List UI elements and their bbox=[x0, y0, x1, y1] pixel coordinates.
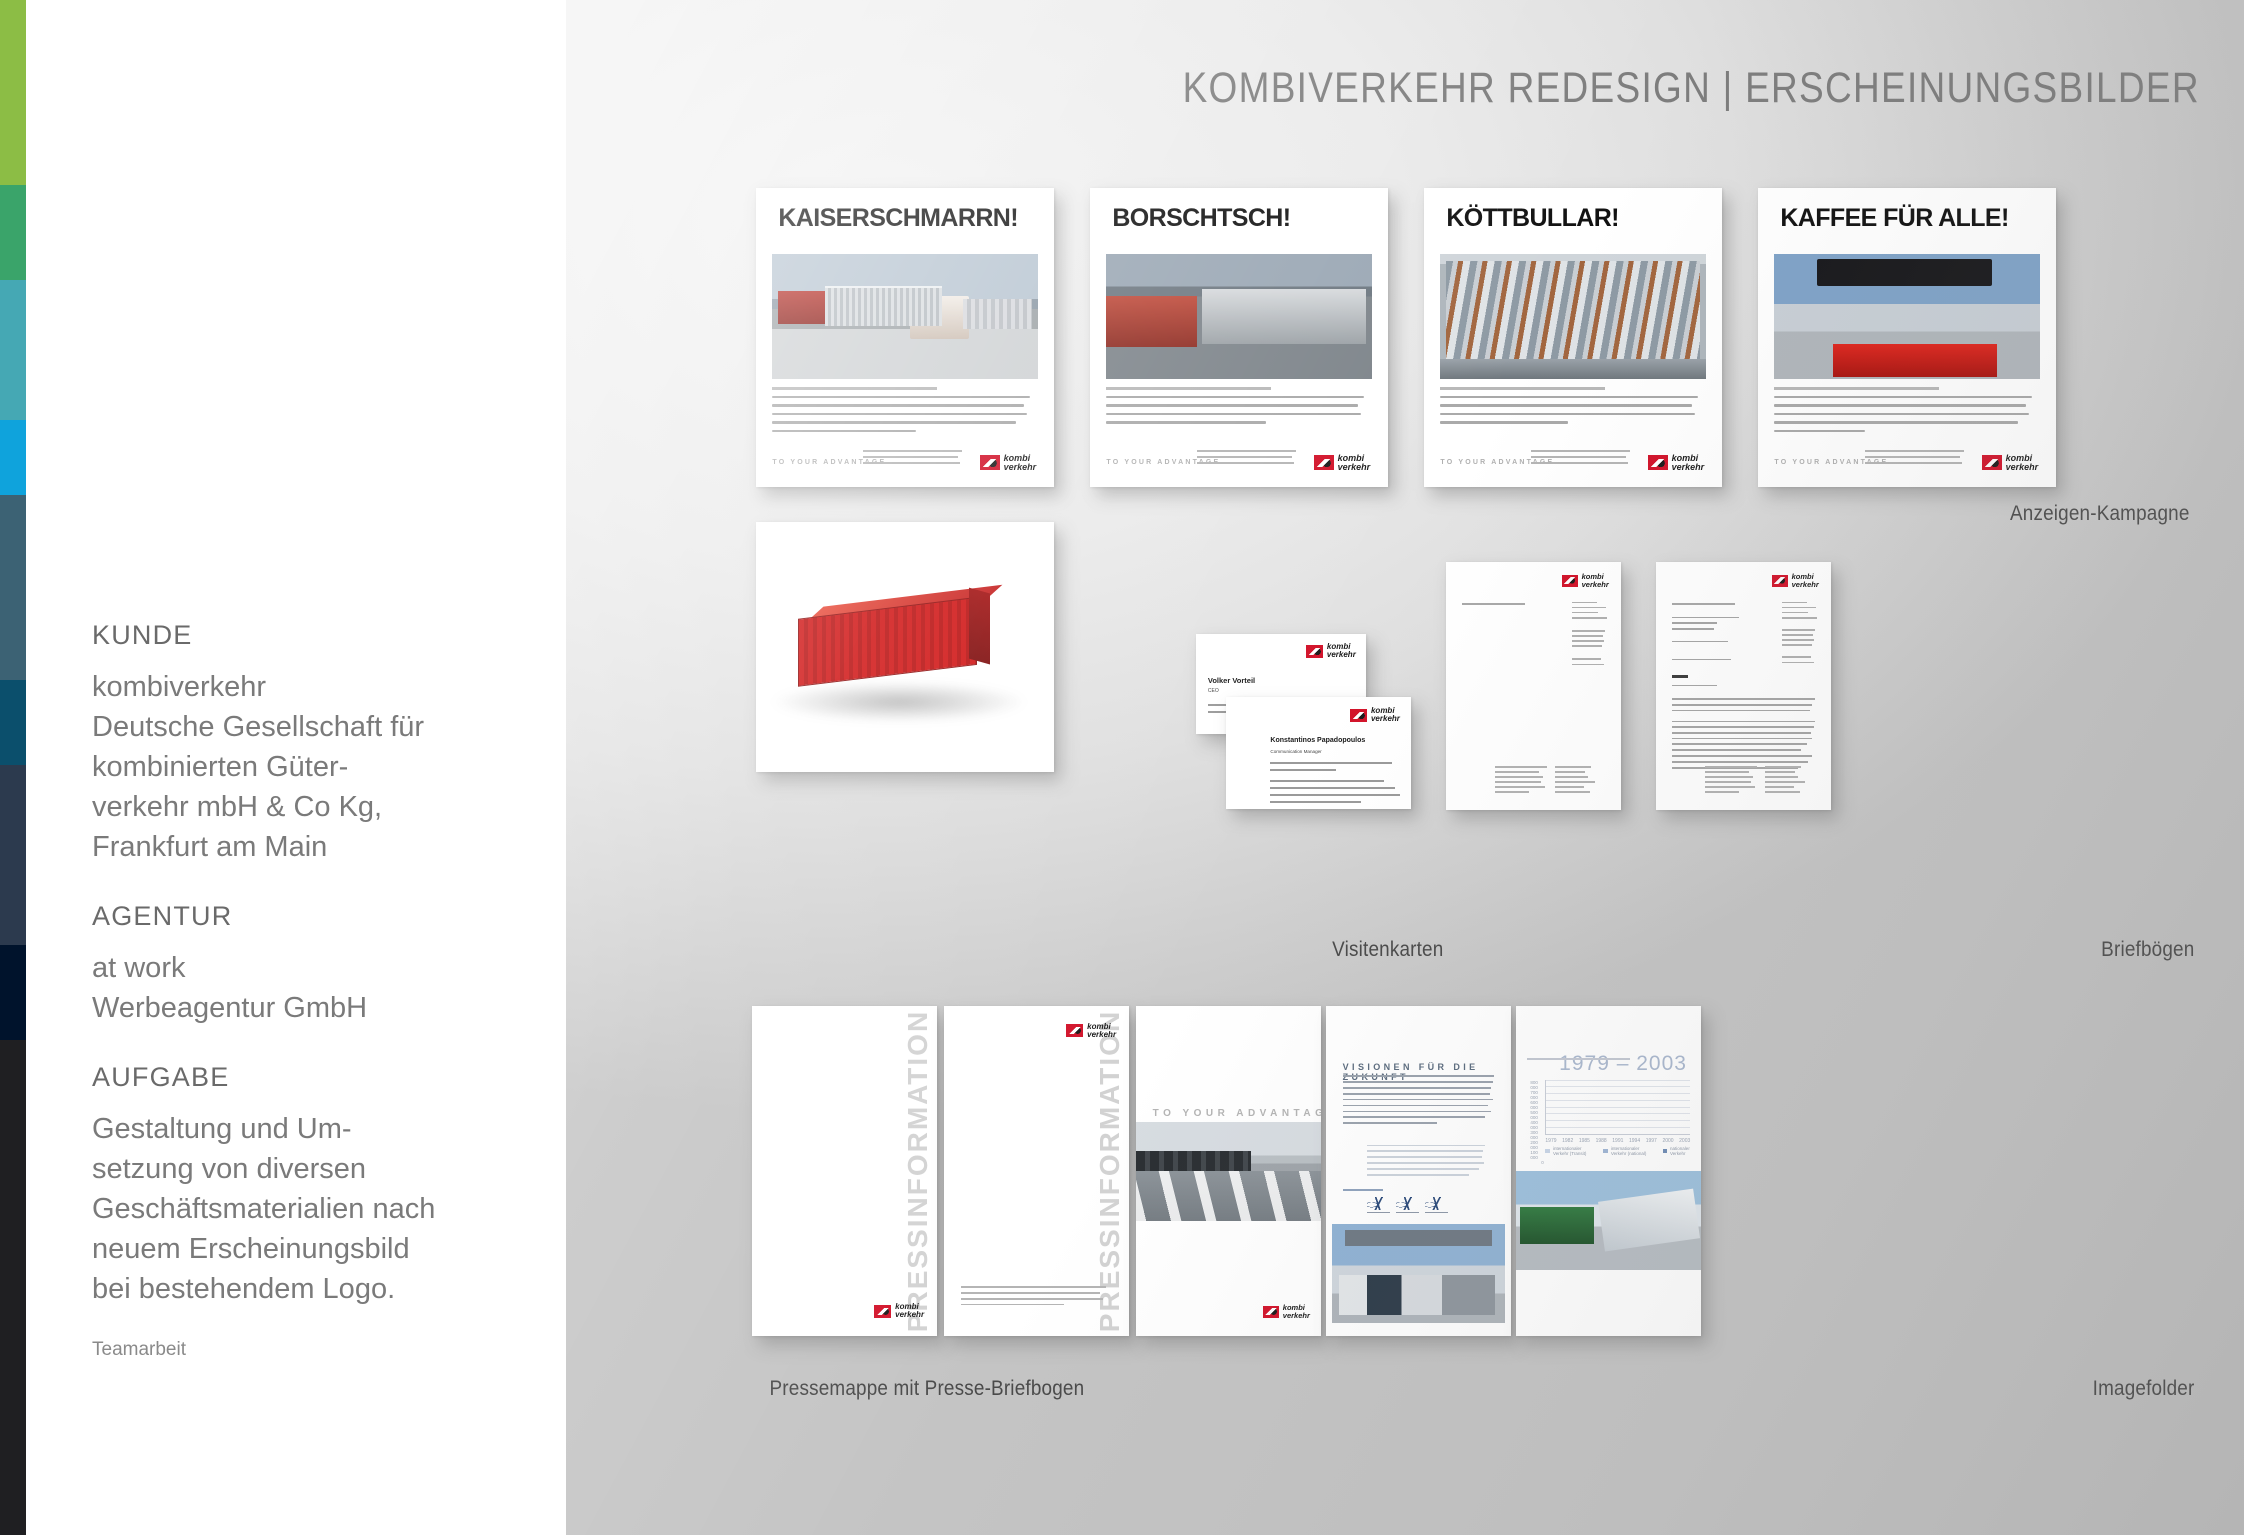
ad-photo bbox=[772, 254, 1037, 380]
stripe-segment bbox=[0, 680, 26, 765]
stripe-segment bbox=[0, 185, 26, 280]
logo-mark-icon bbox=[1982, 455, 2002, 470]
red-container-3d bbox=[798, 584, 1007, 695]
ad-photo bbox=[1774, 254, 2039, 380]
signature-row bbox=[1367, 1197, 1448, 1213]
press-folder-1[interactable]: PRESSINFORMATION kombiverkehr bbox=[752, 1006, 937, 1336]
business-card-2[interactable]: kombiverkehr Konstantinos Papadopoulos C… bbox=[1226, 697, 1411, 809]
chart-x-tick: 1994 bbox=[1629, 1138, 1640, 1144]
letterhead-blank[interactable]: kombiverkehr bbox=[1446, 562, 1621, 810]
brand-logo: kombiverkehr bbox=[1982, 454, 2039, 472]
info-heading-aufgabe: AUFGABE bbox=[92, 1062, 512, 1093]
ad-poster-4[interactable]: KAFFEE FÜR ALLE! TO YOUR ADVANTAGE. komb… bbox=[1758, 188, 2056, 487]
visions-place-date bbox=[1343, 1189, 1384, 1195]
logo-mark-icon bbox=[1562, 575, 1578, 587]
letter-paragraph-2 bbox=[1672, 721, 1816, 755]
logo-mark-icon bbox=[1350, 709, 1367, 722]
brand-logo: kombiverkehr bbox=[980, 454, 1037, 472]
chart-subtitle bbox=[1527, 1058, 1630, 1060]
ad-poster-1[interactable]: KAISERSCHMARRN! TO YOUR ADVANTAGE. kombi… bbox=[756, 188, 1054, 487]
signature bbox=[1396, 1197, 1419, 1213]
chart-x-tick: 1985 bbox=[1579, 1138, 1590, 1144]
brand-logo: kombiverkehr bbox=[1306, 643, 1356, 659]
chart-y-ticks: 800 000700 000600 000500 000 400 000300 … bbox=[1530, 1080, 1543, 1135]
chart-legend: internationaler Verkehr (Transit)interna… bbox=[1545, 1146, 1693, 1156]
chart-x-tick: 2003 bbox=[1679, 1138, 1690, 1144]
caption-letters: Briefbögen bbox=[2102, 938, 2195, 962]
letter-subject bbox=[1672, 675, 1688, 678]
imagefolder-chart-page[interactable]: 1979 – 2003 800 000700 000600 000500 000… bbox=[1516, 1006, 1701, 1336]
letter-footer bbox=[1705, 766, 1817, 796]
logo-wordmark: kombiverkehr bbox=[1327, 643, 1356, 659]
press-vertical-label: PRESSINFORMATION bbox=[1094, 1010, 1126, 1332]
logo-wordmark: kombiverkehr bbox=[1087, 1023, 1116, 1039]
stripe-segment bbox=[0, 495, 26, 680]
chart-legend-item: nationaler Verkehr bbox=[1663, 1146, 1694, 1156]
imagefolder-photo bbox=[1136, 1122, 1321, 1221]
brand-logo: kombiverkehr bbox=[1772, 573, 1819, 588]
brand-logo: kombiverkehr bbox=[1263, 1304, 1310, 1319]
ad-poster-3[interactable]: KÖTTBULLAR! TO YOUR ADVANTAGE. kombiverk… bbox=[1424, 188, 1722, 487]
logo-wordmark: kombiverkehr bbox=[895, 1303, 924, 1319]
letter-address-block bbox=[1572, 602, 1607, 669]
ad-headline: KAFFEE FÜR ALLE! bbox=[1780, 204, 2008, 233]
letter-recipient-block bbox=[1672, 617, 1742, 647]
card-company-lines bbox=[1270, 762, 1392, 776]
letter-date-line bbox=[1672, 659, 1732, 665]
stripe-segment bbox=[0, 280, 26, 420]
growth-chart: 1979 – 2003 800 000700 000600 000500 000… bbox=[1527, 1052, 1694, 1158]
ad-body-copy bbox=[772, 387, 1037, 439]
caption-ads: Anzeigen-Kampagne bbox=[2010, 502, 2190, 526]
chart-legend-item: internationaler Verkehr (national) bbox=[1603, 1146, 1653, 1156]
card-role: Communication Manager bbox=[1270, 749, 1321, 754]
logo-wordmark: kombiverkehr bbox=[1582, 573, 1609, 588]
info-body-aufgabe: Gestaltung und Um- setzung von diversen … bbox=[92, 1109, 512, 1309]
chart-legend-item: internationaler Verkehr (Transit) bbox=[1545, 1146, 1594, 1156]
ad-body-copy bbox=[1440, 387, 1705, 430]
letterhead-filled[interactable]: kombiverkehr bbox=[1656, 562, 1831, 810]
chart-x-tick: 1991 bbox=[1612, 1138, 1623, 1144]
chart-title: 1979 – 2003 bbox=[1559, 1052, 1687, 1076]
stripe-segment bbox=[0, 1040, 26, 1535]
logo-mark-icon bbox=[1263, 1306, 1279, 1318]
stripe-segment bbox=[0, 420, 26, 495]
ad-headline: KAISERSCHMARRN! bbox=[778, 204, 1018, 233]
page-title: KOMBIVERKEHR REDESIGN | ERSCHEINUNGSBILD… bbox=[1183, 64, 2200, 113]
stripe-segment bbox=[0, 945, 26, 1040]
logo-mark-icon bbox=[1314, 455, 1334, 470]
brand-logo: kombiverkehr bbox=[874, 1303, 924, 1319]
container-render-sheet[interactable] bbox=[756, 522, 1054, 772]
ad-imprint bbox=[863, 450, 970, 468]
letter-sender-line bbox=[1462, 603, 1525, 605]
stripe-segment bbox=[0, 0, 26, 185]
chart-x-tick: 1988 bbox=[1596, 1138, 1607, 1144]
logo-wordmark: kombiverkehr bbox=[2006, 454, 2039, 472]
logo-mark-icon bbox=[980, 455, 1000, 470]
signature bbox=[1367, 1197, 1390, 1213]
brand-logo: kombiverkehr bbox=[1314, 454, 1371, 472]
card-name: Volker Vorteil bbox=[1208, 676, 1255, 685]
ad-imprint bbox=[1865, 450, 1972, 468]
logo-mark-icon bbox=[1066, 1024, 1083, 1037]
press-folder-2[interactable]: PRESSINFORMATION kombiverkehr bbox=[944, 1006, 1129, 1336]
info-body-agentur: at work Werbeagentur GmbH bbox=[92, 948, 512, 1028]
logo-mark-icon bbox=[1648, 455, 1668, 470]
logo-wordmark: kombiverkehr bbox=[1371, 707, 1400, 723]
visions-paragraph bbox=[1343, 1075, 1495, 1128]
logo-wordmark: kombiverkehr bbox=[1004, 454, 1037, 472]
card-name: Konstantinos Papadopoulos bbox=[1270, 737, 1365, 744]
logo-mark-icon bbox=[1772, 575, 1788, 587]
chart-x-axis: 197919821985198819911994199720002003 bbox=[1545, 1138, 1690, 1144]
imagefolder-visions-page[interactable]: VISIONEN FÜR DIE ZUKUNFT bbox=[1326, 1006, 1511, 1336]
card-role: CEO bbox=[1208, 688, 1219, 694]
letter-footer bbox=[1495, 766, 1607, 796]
teamwork-note: Teamarbeit bbox=[92, 1339, 512, 1361]
letter-address-block bbox=[1782, 602, 1817, 667]
left-info-panel: KUNDE kombiverkehr Deutsche Gesellschaft… bbox=[0, 0, 566, 1535]
visions-paragraph-secondary bbox=[1367, 1145, 1485, 1180]
chart-bars bbox=[1546, 1080, 1690, 1134]
chart-x-tick: 1979 bbox=[1545, 1138, 1556, 1144]
ad-body-copy bbox=[1774, 387, 2039, 439]
signature bbox=[1425, 1197, 1448, 1213]
press-body-copy bbox=[961, 1286, 1109, 1310]
ad-headline: BORSCHTSCH! bbox=[1112, 204, 1290, 233]
brand-color-stripe bbox=[0, 0, 26, 1535]
caption-press: Pressemappe mit Presse-Briefbogen bbox=[769, 1377, 1084, 1401]
letter-paragraph-1 bbox=[1672, 698, 1816, 715]
logo-mark-icon bbox=[874, 1305, 891, 1318]
chart-plot-area bbox=[1545, 1080, 1690, 1135]
ad-photo bbox=[1440, 254, 1705, 380]
card-address-lines bbox=[1270, 780, 1400, 808]
logo-wordmark: kombiverkehr bbox=[1338, 454, 1371, 472]
ad-body-copy bbox=[1106, 387, 1371, 430]
logo-wordmark: kombiverkehr bbox=[1672, 454, 1705, 472]
info-body-kunde: kombiverkehr Deutsche Gesellschaft für k… bbox=[92, 667, 512, 867]
letter-salutation bbox=[1672, 685, 1718, 691]
press-vertical-label: PRESSINFORMATION bbox=[902, 1010, 934, 1332]
chart-page-photo bbox=[1516, 1171, 1701, 1270]
logo-mark-icon bbox=[1306, 645, 1323, 658]
caption-imagefolder: Imagefolder bbox=[2093, 1377, 2195, 1401]
brand-logo: kombiverkehr bbox=[1066, 1023, 1116, 1039]
info-heading-kunde: KUNDE bbox=[92, 620, 512, 651]
caption-cards: Visitenkarten bbox=[1332, 938, 1443, 962]
portfolio-stage: KOMBIVERKEHR REDESIGN | ERSCHEINUNGSBILD… bbox=[566, 0, 2244, 1535]
ad-headline: KÖTTBULLAR! bbox=[1446, 204, 1619, 233]
ad-poster-2[interactable]: BORSCHTSCH! TO YOUR ADVANTAGE. kombiverk… bbox=[1090, 188, 1388, 487]
brand-logo: kombiverkehr bbox=[1562, 573, 1609, 588]
visions-photo bbox=[1332, 1224, 1506, 1323]
brand-logo: kombiverkehr bbox=[1648, 454, 1705, 472]
info-heading-agentur: AGENTUR bbox=[92, 901, 512, 932]
ad-imprint bbox=[1197, 450, 1304, 468]
chart-x-tick: 1982 bbox=[1562, 1138, 1573, 1144]
ad-photo bbox=[1106, 254, 1371, 380]
ad-imprint bbox=[1531, 450, 1638, 468]
logo-wordmark: kombiverkehr bbox=[1283, 1304, 1310, 1319]
logo-wordmark: kombiverkehr bbox=[1792, 573, 1819, 588]
chart-x-tick: 1997 bbox=[1646, 1138, 1657, 1144]
chart-x-tick: 2000 bbox=[1662, 1138, 1673, 1144]
project-info-block: KUNDE kombiverkehr Deutsche Gesellschaft… bbox=[92, 620, 512, 1361]
imagefolder-tagline: TO YOUR ADVANTAGE. bbox=[1153, 1108, 1321, 1119]
stripe-segment bbox=[0, 765, 26, 945]
letter-sender-line bbox=[1672, 603, 1735, 605]
brand-logo: kombiverkehr bbox=[1350, 707, 1400, 723]
imagefolder-cover[interactable]: TO YOUR ADVANTAGE. kombiverkehr bbox=[1136, 1006, 1321, 1336]
